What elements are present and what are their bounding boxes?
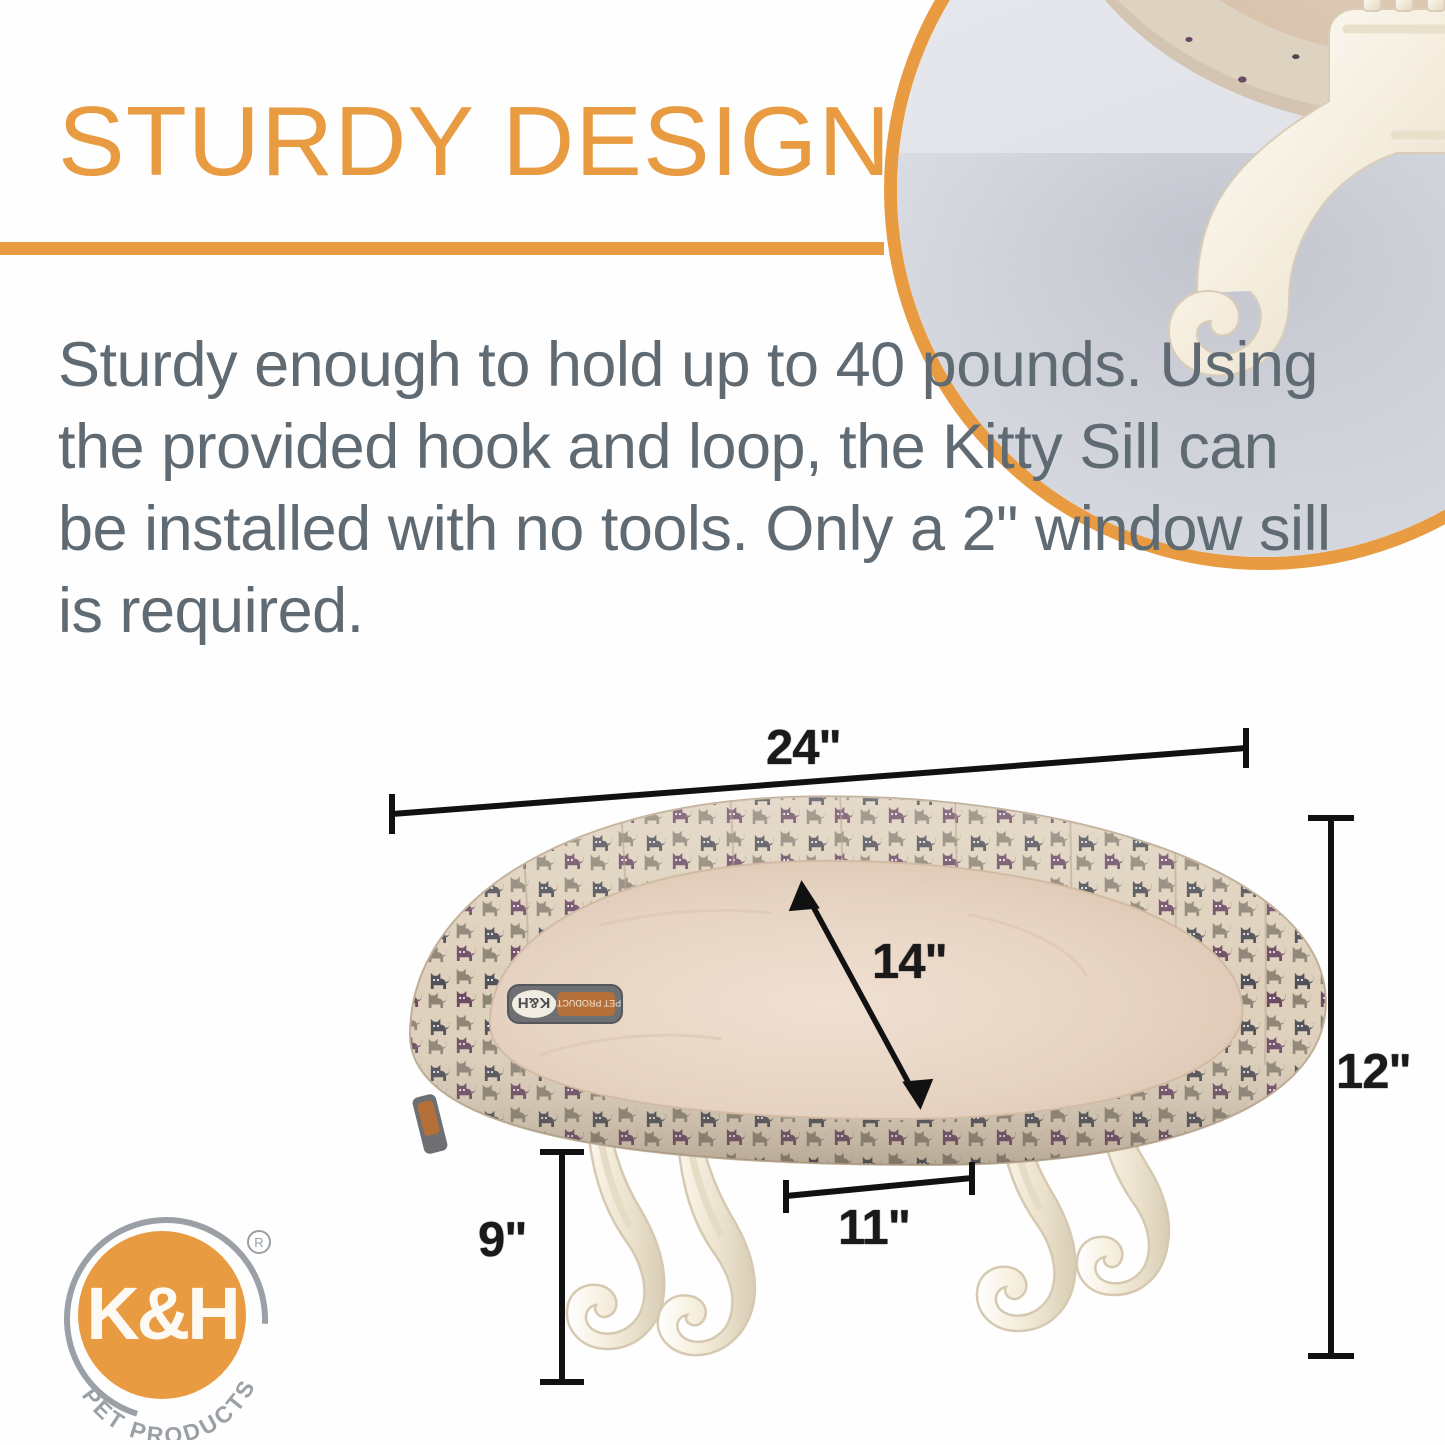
dimension-label-width: 24": [766, 720, 841, 776]
title-underline-rule: [0, 242, 884, 255]
logo-registered-mark: R: [248, 1231, 270, 1253]
dimension-label-bracket-gap: 11": [838, 1200, 910, 1256]
kitty-sill-illustration: K&H PET PRODUCTS: [370, 735, 1380, 1435]
page-title: STURDY DESIGN: [58, 92, 891, 190]
dimension-label-height: 12": [1336, 1044, 1411, 1100]
product-photo: K&H PET PRODUCTS: [370, 735, 1380, 1435]
zipper-tag: [411, 1093, 448, 1155]
kh-brand-tag: K&H PET PRODUCTS: [508, 985, 622, 1023]
svg-text:K&H: K&H: [518, 994, 551, 1011]
svg-text:PET PRODUCTS: PET PRODUCTS: [551, 998, 621, 1008]
svg-text:R: R: [254, 1235, 263, 1250]
dimension-label-depth: 14": [872, 934, 947, 990]
kh-pet-products-logo: K&H R PET PRODUCTS: [50, 1215, 290, 1440]
feature-description: Sturdy enough to hold up to 40 pounds. U…: [58, 325, 1358, 653]
dimension-label-bracket-drop: 9": [478, 1212, 526, 1268]
infographic-canvas: STURDY DESIGN Sturdy enough to hold up t…: [0, 0, 1445, 1445]
logo-wordmark: K&H: [86, 1272, 237, 1355]
